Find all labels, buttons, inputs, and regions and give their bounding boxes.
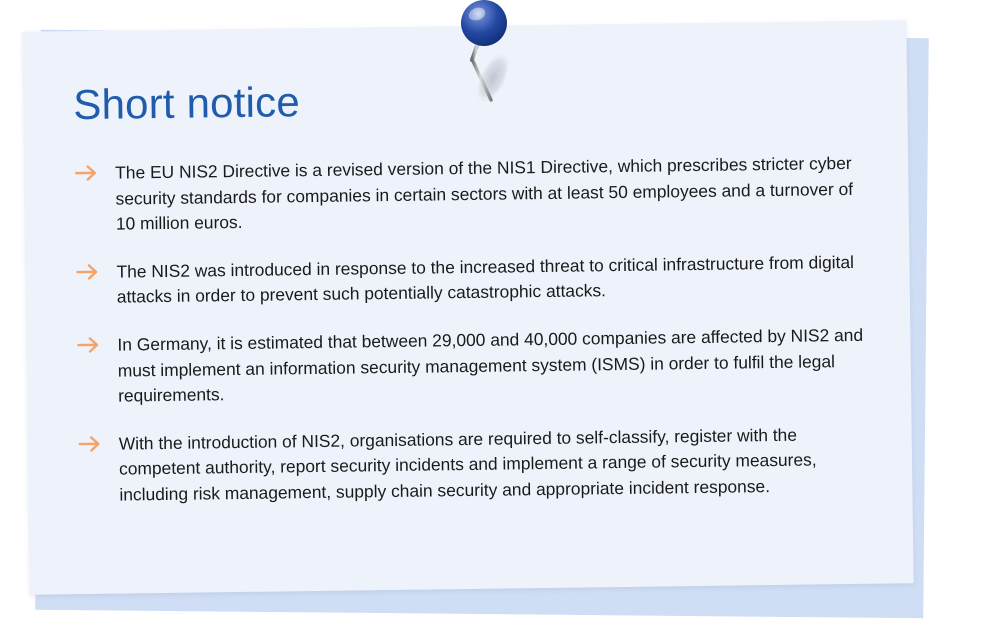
slide-canvas: Short notice The EU NIS2 Directive is a … <box>0 0 1000 629</box>
arrow-right-icon <box>75 261 101 283</box>
list-item-text: In Germany, it is estimated that between… <box>117 325 863 406</box>
arrow-right-icon <box>78 432 104 454</box>
card-content: Short notice The EU NIS2 Directive is a … <box>22 20 913 595</box>
list-item-text: The NIS2 was introduced in response to t… <box>116 252 854 307</box>
arrow-right-icon <box>74 162 100 184</box>
list-item: The NIS2 was introduced in response to t… <box>75 250 864 311</box>
short-notice-card: Short notice The EU NIS2 Directive is a … <box>22 20 913 595</box>
bullet-list: The EU NIS2 Directive is a revised versi… <box>74 151 866 509</box>
page-title: Short notice <box>73 73 862 127</box>
list-item-text: With the introduction of NIS2, organisat… <box>119 424 817 504</box>
arrow-right-icon <box>76 334 102 356</box>
list-item-text: The EU NIS2 Directive is a revised versi… <box>115 153 853 234</box>
list-item: With the introduction of NIS2, organisat… <box>78 422 867 509</box>
list-item: In Germany, it is estimated that between… <box>76 323 865 410</box>
list-item: The EU NIS2 Directive is a revised versi… <box>74 151 863 238</box>
